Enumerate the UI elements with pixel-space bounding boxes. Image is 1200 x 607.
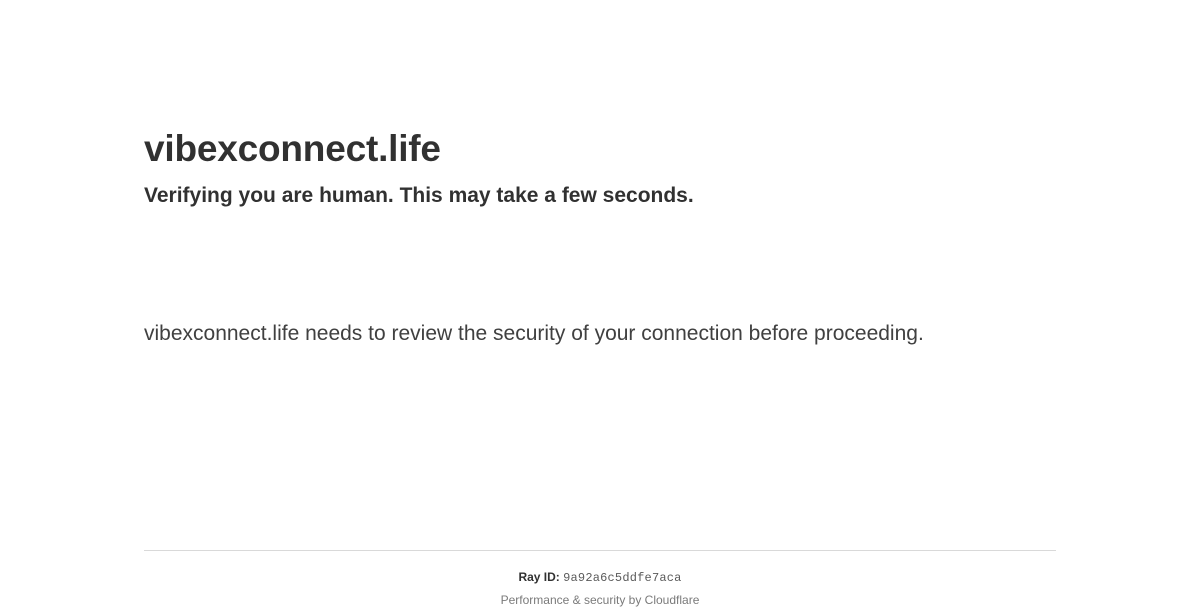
attribution-prefix: Performance & security by (501, 593, 645, 607)
bottom-spacer (144, 352, 1056, 497)
cloudflare-link[interactable]: Cloudflare (645, 593, 700, 607)
footer: Ray ID: 9a92a6c5ddfe7aca Performance & s… (144, 550, 1056, 607)
ray-id-value: 9a92a6c5ddfe7aca (563, 571, 681, 585)
challenge-page: vibexconnect.life Verifying you are huma… (0, 0, 1200, 600)
ray-id-label: Ray ID: (518, 570, 559, 584)
ray-id-line: Ray ID: 9a92a6c5ddfe7aca (144, 570, 1056, 585)
verification-status-text: Verifying you are human. This may take a… (144, 182, 1056, 210)
page-title: vibexconnect.life (144, 126, 1056, 172)
challenge-widget-area[interactable] (144, 230, 1056, 316)
main-content: vibexconnect.life Verifying you are huma… (144, 0, 1056, 497)
top-spacer (144, 0, 1056, 126)
attribution-line: Performance & security by Cloudflare (144, 593, 1056, 607)
security-review-message: vibexconnect.life needs to review the se… (144, 316, 944, 352)
footer-inner: Ray ID: 9a92a6c5ddfe7aca Performance & s… (144, 551, 1056, 607)
